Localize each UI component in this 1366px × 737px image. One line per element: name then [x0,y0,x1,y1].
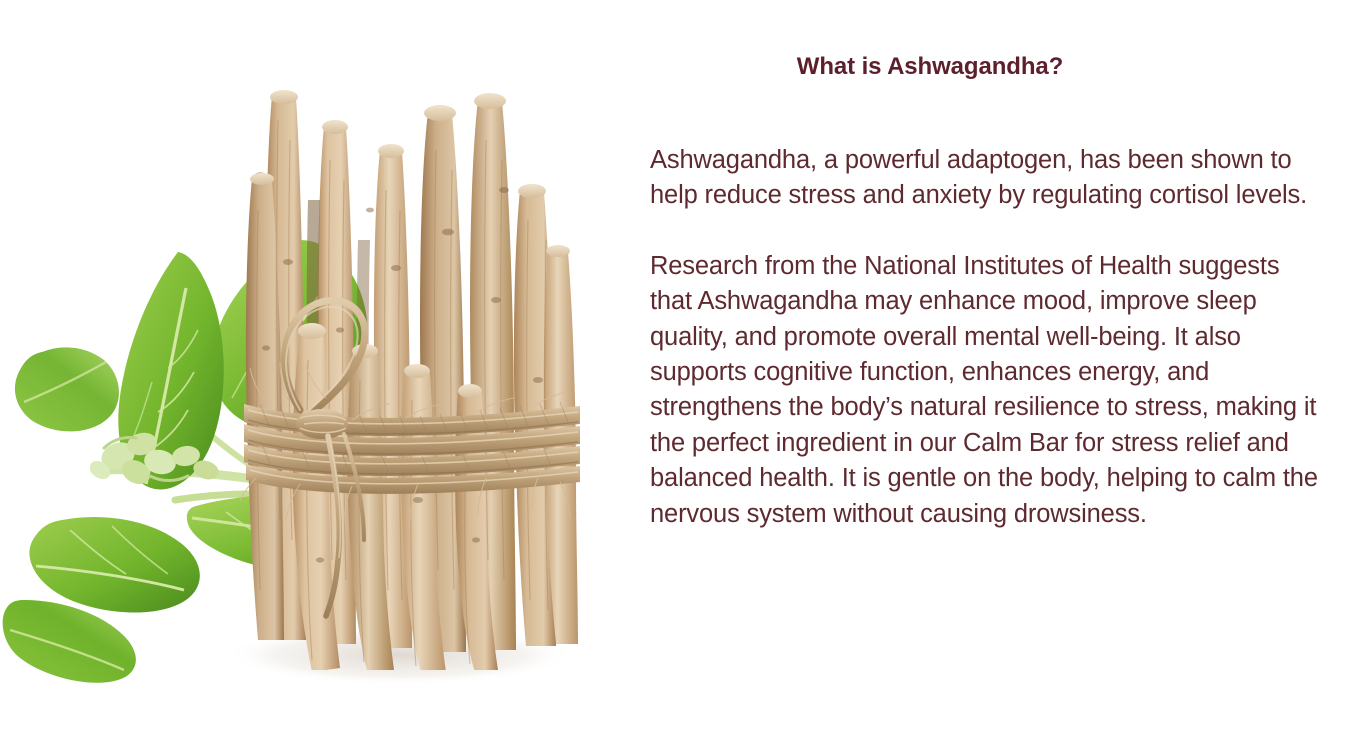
ashwagandha-root-image [0,0,620,737]
root-cut-top-3 [378,144,404,158]
slide-root: What is Ashwagandha? Ashwagandha, a powe… [0,0,1366,737]
root-cut-top-5 [474,93,506,109]
root-cut-top-4 [424,105,456,121]
root-cut-front-4 [458,384,482,398]
root-cut-top-1 [270,90,298,104]
page-title: What is Ashwagandha? [620,52,1240,82]
paragraph-1: Ashwagandha, a powerful adaptogen, has b… [650,143,1320,214]
body-copy: Ashwagandha, a powerful adaptogen, has b… [650,143,1350,532]
root-cut-front-3 [404,364,430,378]
ashwagandha-illustration-svg [0,0,620,737]
root-cut-top-2 [322,120,348,134]
root-cut-top-8 [250,173,274,185]
paragraph-2: Research from the National Institutes of… [650,249,1320,532]
root-cut-front-1 [298,323,326,339]
root-cut-top-6 [518,184,546,198]
text-column: What is Ashwagandha? Ashwagandha, a powe… [620,0,1366,737]
leaf-far-left [15,347,119,431]
root-cut-top-7 [546,245,570,257]
